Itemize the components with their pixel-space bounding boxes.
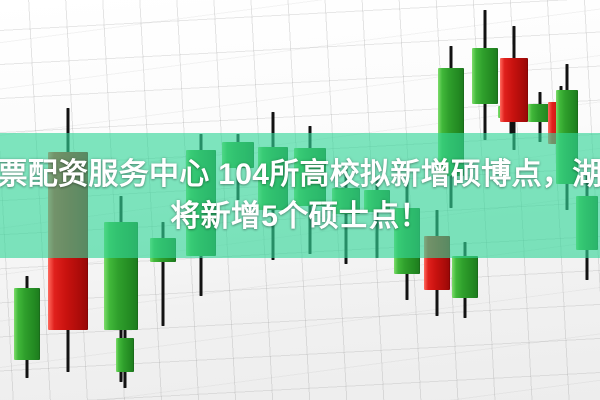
- candlestick-body-up: [452, 256, 478, 298]
- headline-band: [0, 133, 600, 258]
- candlestick-body-down: [500, 58, 528, 122]
- candlestick: [14, 276, 40, 378]
- candlestick-body-up: [472, 48, 498, 104]
- candlestick-body-up: [14, 288, 40, 360]
- banner-image: 股票配资服务中心 104所高校拟新增硕博点，湖南 将新增5个硕士点！: [0, 0, 600, 400]
- candlestick: [500, 26, 528, 150]
- candlestick-body-up: [116, 338, 134, 372]
- candlestick: [116, 330, 134, 388]
- candlestick: [472, 10, 498, 140]
